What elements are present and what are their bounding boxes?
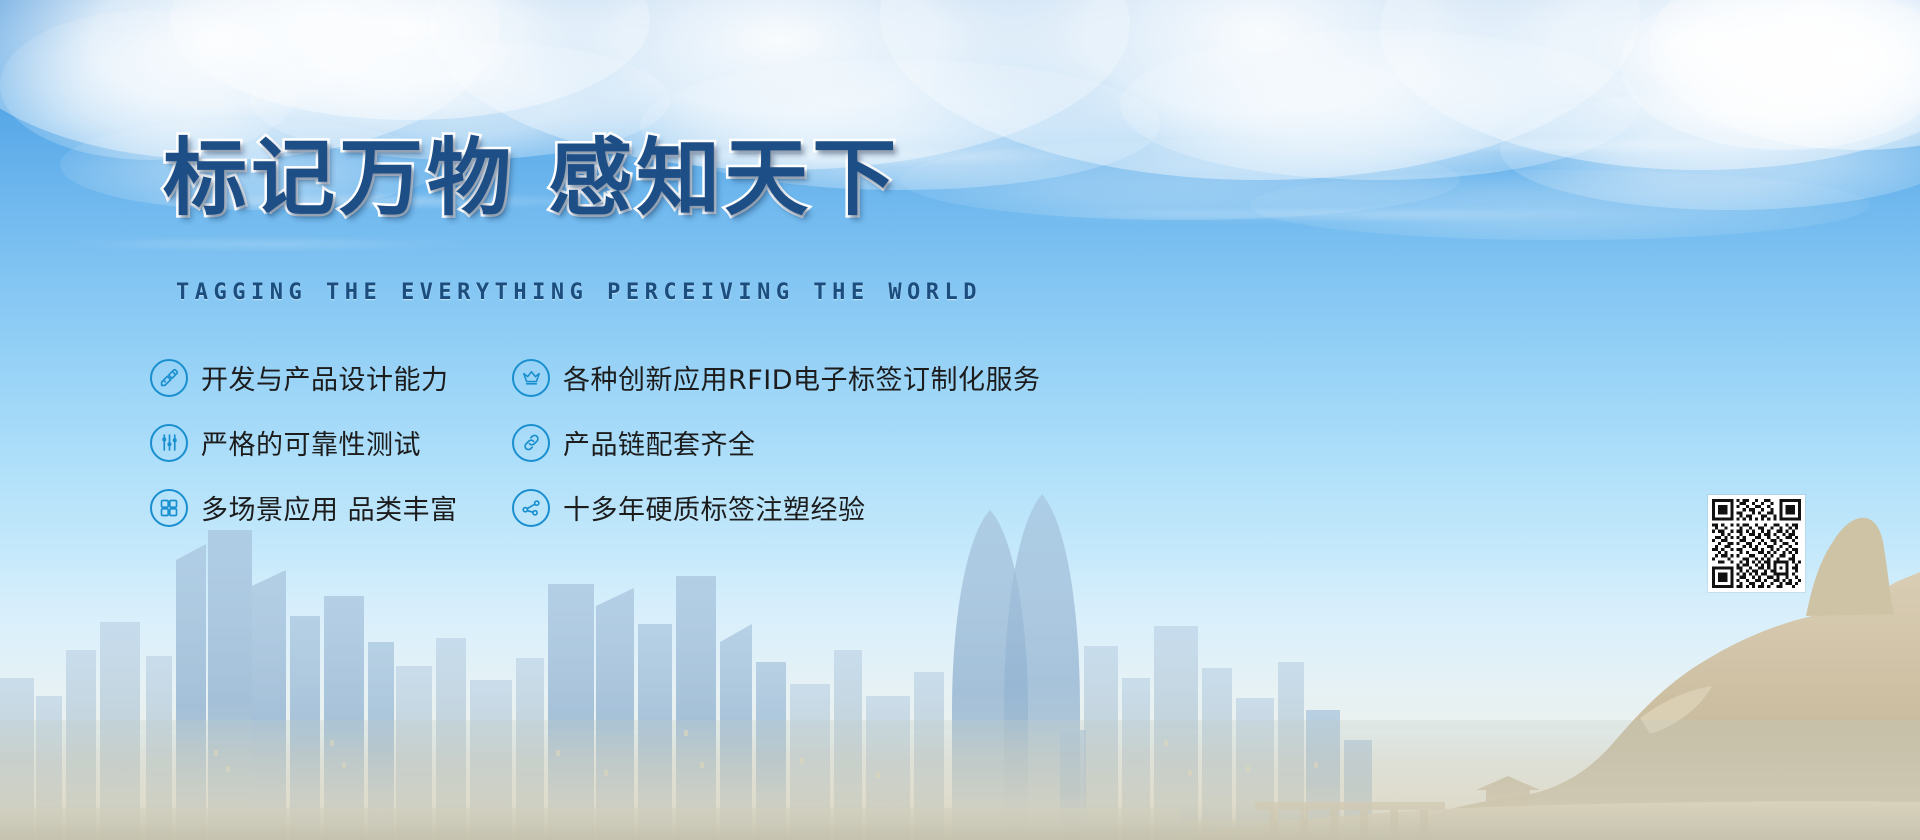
- feature-item: 严格的可靠性测试: [150, 410, 500, 475]
- feature-item: 十多年硬质标签注塑经验: [500, 475, 1060, 540]
- feature-label: 十多年硬质标签注塑经验: [563, 488, 866, 527]
- link-icon: [512, 424, 550, 462]
- crown-icon: [512, 359, 550, 397]
- feature-item: 多场景应用 品类丰富: [150, 475, 500, 540]
- cloud-wisp: [60, 240, 480, 248]
- feature-label: 严格的可靠性测试: [201, 423, 421, 462]
- tagline: TAGGING THE EVERYTHING PERCEIVING THE WO…: [176, 280, 982, 305]
- headline: 标记万物 感知天下: [163, 134, 900, 222]
- feature-label: 多场景应用 品类丰富: [201, 488, 458, 527]
- feature-item: 各种创新应用RFID电子标签订制化服务: [500, 345, 1060, 410]
- cloud-wisp: [1380, 140, 1900, 151]
- feature-item: 开发与产品设计能力: [150, 345, 500, 410]
- promo-banner: 标记万物 感知天下 TAGGING THE EVERYTHING PERCEIV…: [0, 0, 1920, 840]
- grid-squares-icon: [150, 489, 188, 527]
- feature-item: 产品链配套齐全: [500, 410, 1060, 475]
- cloud-shape: [1250, 170, 1870, 240]
- feature-label: 各种创新应用RFID电子标签订制化服务: [563, 358, 1041, 397]
- qr-code-image: [1712, 499, 1801, 588]
- feature-list: 开发与产品设计能力 各种创新应用RFID电子标签订制化服务: [150, 345, 1070, 540]
- qr-code[interactable]: [1708, 495, 1805, 592]
- feature-label: 产品链配套齐全: [563, 423, 756, 462]
- cloud-wisp: [1000, 210, 1700, 219]
- feature-label: 开发与产品设计能力: [201, 358, 449, 397]
- pencil-ruler-icon: [150, 359, 188, 397]
- share-network-icon: [512, 489, 550, 527]
- water-foreground: [0, 720, 1920, 840]
- sliders-icon: [150, 424, 188, 462]
